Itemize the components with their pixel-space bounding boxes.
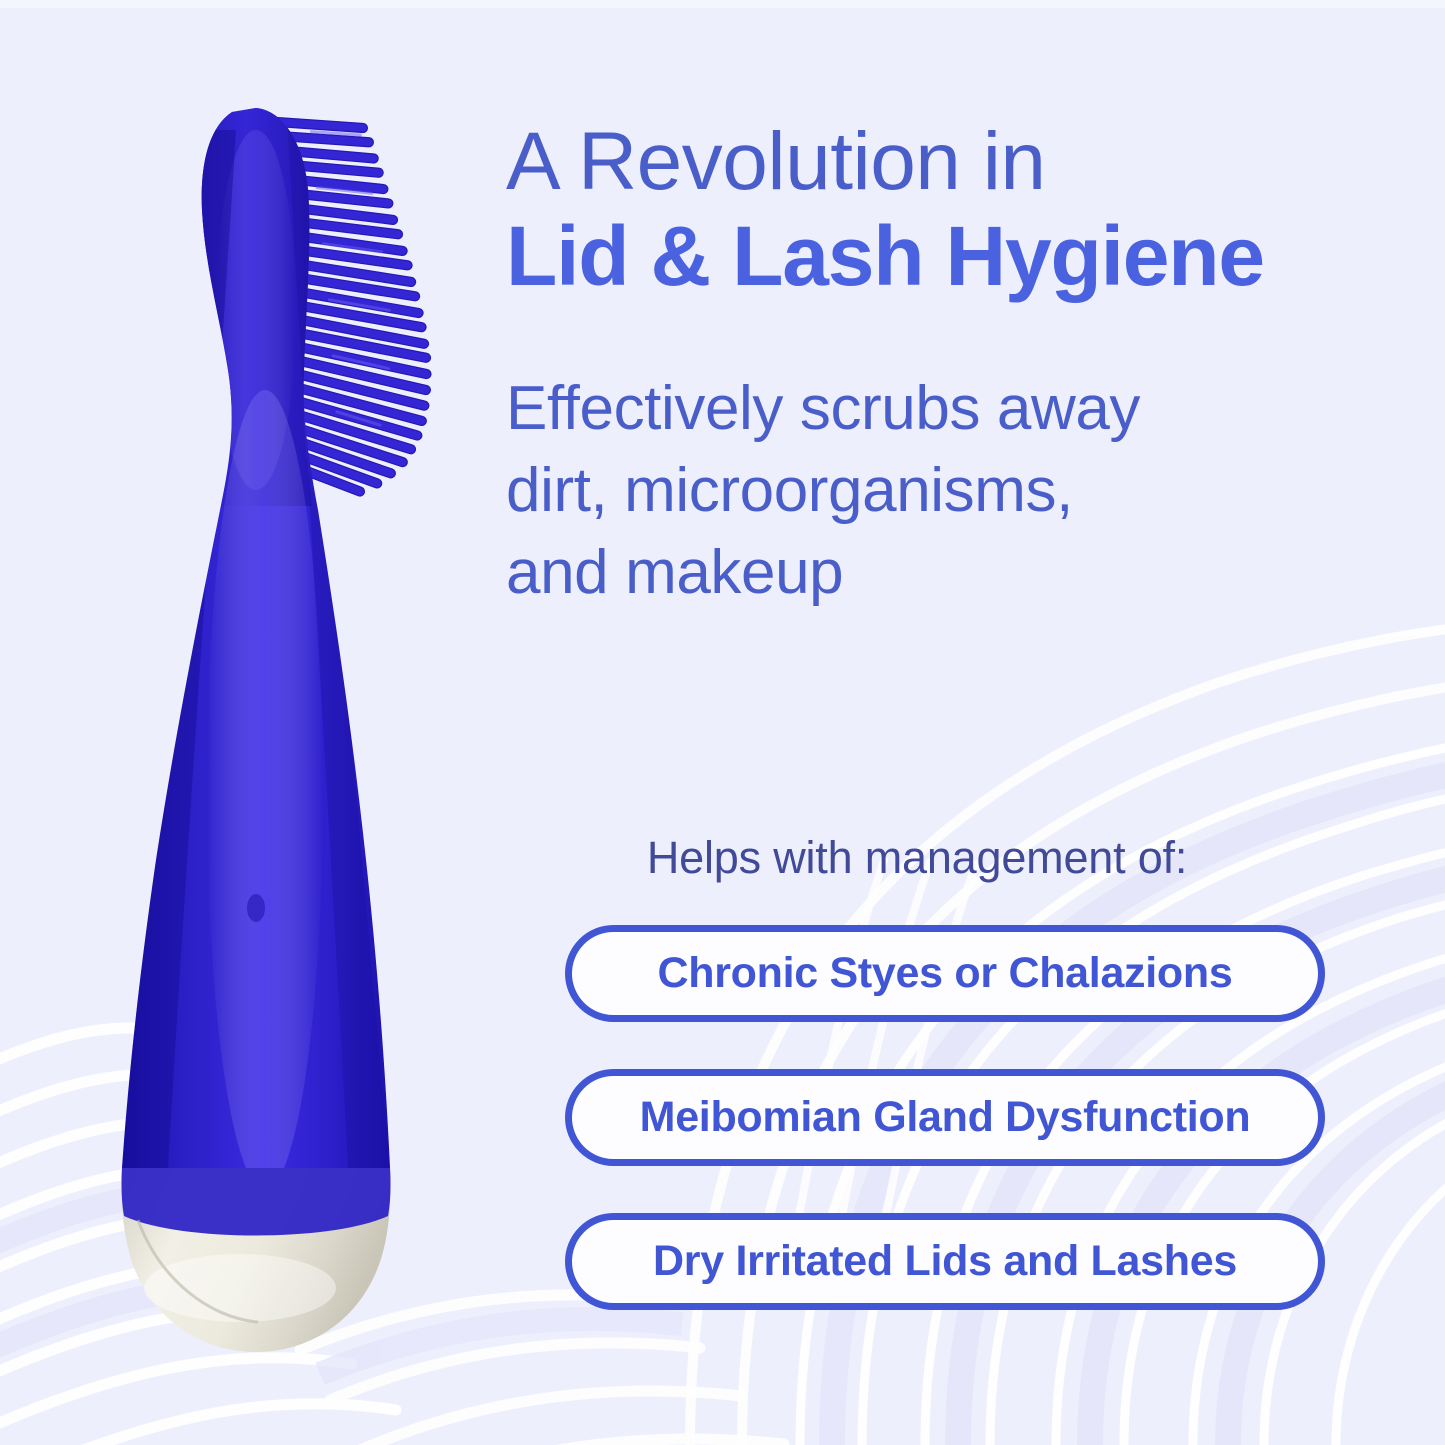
content-column: A Revolution in Lid & Lash Hygiene Effec… — [498, 0, 1398, 1445]
condition-pill-label: Chronic Styes or Chalazions — [658, 949, 1233, 998]
helps-with-label: Helps with management of: — [498, 832, 1336, 884]
body-copy: Effectively scrubs away dirt, microorgan… — [506, 368, 1366, 613]
headline-block: A Revolution in Lid & Lash Hygiene — [506, 118, 1386, 306]
condition-pill-label: Dry Irritated Lids and Lashes — [653, 1237, 1237, 1286]
body-copy-line-2: dirt, microorganisms, — [506, 450, 1366, 532]
condition-pill-dry-irritated-lids[interactable]: Dry Irritated Lids and Lashes — [565, 1213, 1325, 1310]
product-image-eyelid-brush — [60, 70, 490, 1400]
conditions-list: Chronic Styes or Chalazions Meibomian Gl… — [565, 925, 1325, 1310]
headline-line-1: A Revolution in — [506, 118, 1386, 207]
condition-pill-meibomian-gland-dysfunction[interactable]: Meibomian Gland Dysfunction — [565, 1069, 1325, 1166]
brush-base-cap — [121, 1168, 390, 1352]
condition-pill-label: Meibomian Gland Dysfunction — [640, 1093, 1251, 1142]
condition-pill-chronic-styes[interactable]: Chronic Styes or Chalazions — [565, 925, 1325, 1022]
headline-line-2: Lid & Lash Hygiene — [506, 207, 1386, 306]
body-copy-line-1: Effectively scrubs away — [506, 368, 1366, 450]
body-copy-line-3: and makeup — [506, 532, 1366, 614]
eyelid-brush-illustration — [60, 70, 490, 1400]
product-marketing-banner: A Revolution in Lid & Lash Hygiene Effec… — [0, 0, 1445, 1445]
